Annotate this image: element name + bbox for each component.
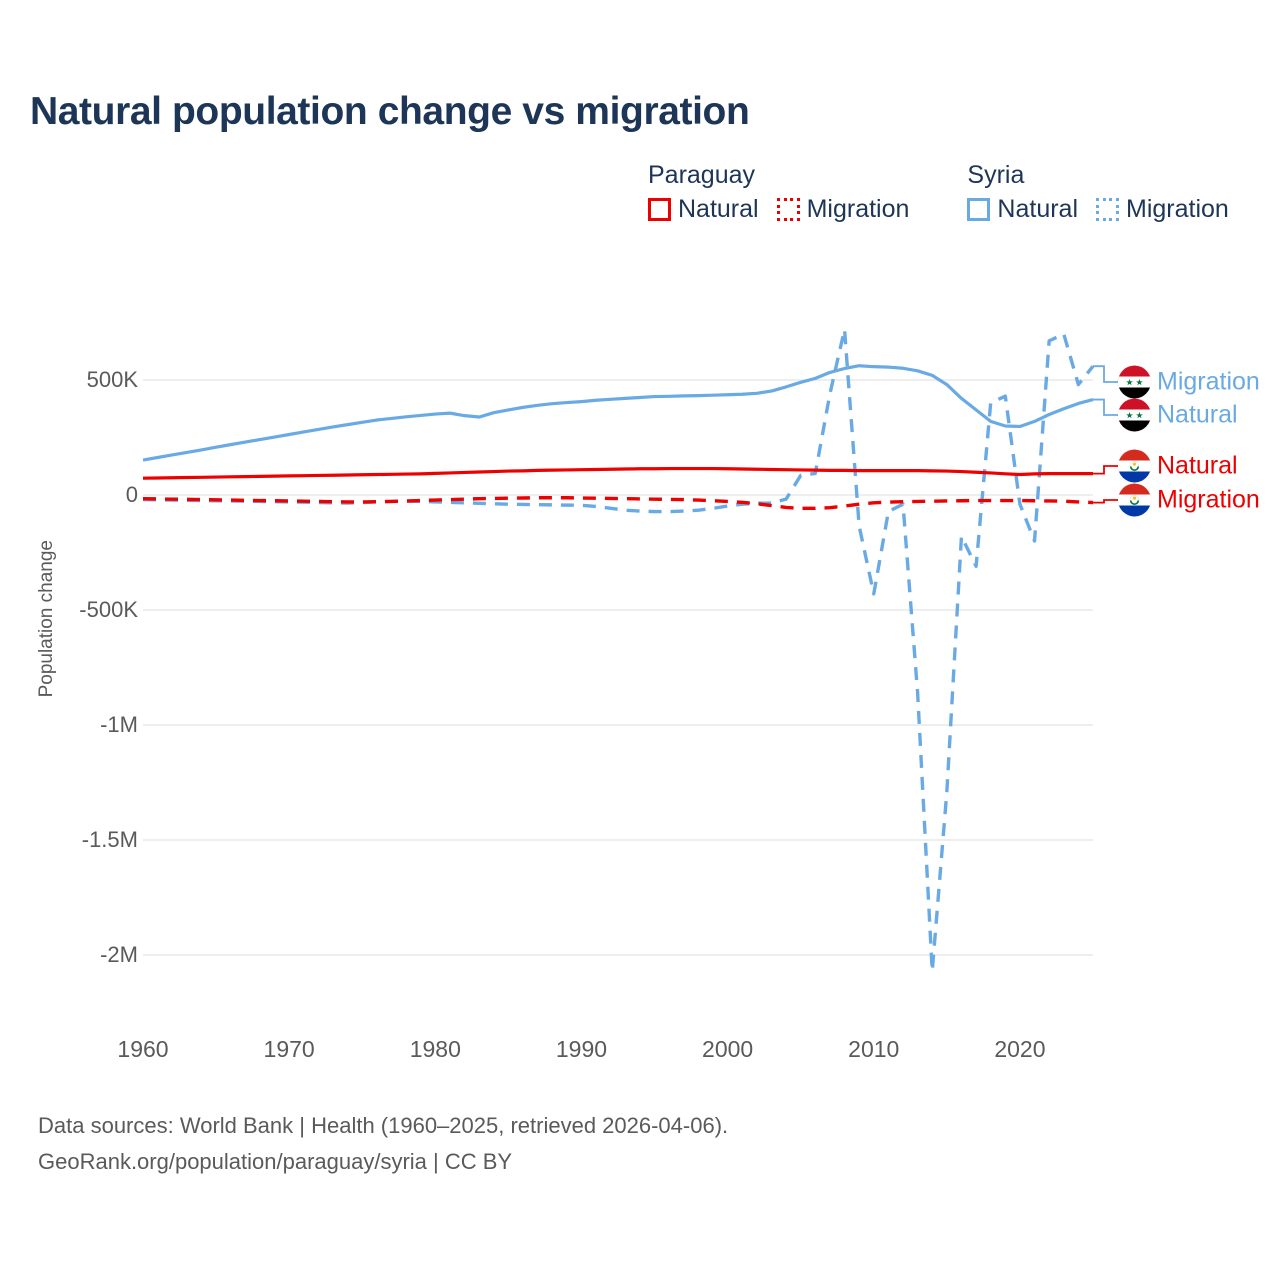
footer-line-1: Data sources: World Bank | Health (1960–… xyxy=(38,1108,728,1144)
y-axis-tick-label: -1M xyxy=(100,712,138,738)
x-axis-tick-label: 1980 xyxy=(410,1036,461,1063)
x-axis-tick-label: 1990 xyxy=(556,1036,607,1063)
y-axis-tick-label: -2M xyxy=(100,942,138,968)
series-end-label-text: Natural xyxy=(1157,454,1238,479)
syria-flag-icon xyxy=(1118,366,1151,399)
series-end-label[interactable]: Natural xyxy=(1118,450,1238,483)
x-axis-tick-label: 2010 xyxy=(848,1036,899,1063)
footer-note: Data sources: World Bank | Health (1960–… xyxy=(38,1108,728,1181)
series-end-label-text: Migration xyxy=(1157,488,1260,513)
y-axis-tick-label: -1.5M xyxy=(82,827,138,853)
footer-line-2: GeoRank.org/population/paraguay/syria | … xyxy=(38,1144,728,1180)
plot-canvas xyxy=(0,0,1280,1280)
paraguay-flag-icon xyxy=(1118,450,1151,483)
series-end-label[interactable]: Natural xyxy=(1118,399,1238,432)
label-leader-line xyxy=(1093,466,1118,474)
series-line-paraguay-natural xyxy=(143,469,1093,479)
paraguay-flag-icon xyxy=(1118,484,1151,517)
series-end-label[interactable]: Migration xyxy=(1118,366,1260,399)
x-axis-tick-label: 1970 xyxy=(264,1036,315,1063)
y-axis-tick-label: 500K xyxy=(87,367,138,393)
x-axis-tick-label: 2000 xyxy=(702,1036,753,1063)
x-axis-tick-label: 1960 xyxy=(117,1036,168,1063)
series-end-label-text: Migration xyxy=(1157,370,1260,395)
y-axis-tick-label: -500K xyxy=(79,597,138,623)
series-line-syria-migration xyxy=(143,329,1093,971)
y-axis-tick-label: 0 xyxy=(126,482,138,508)
label-leader-line xyxy=(1093,366,1118,382)
y-axis-title: Population change xyxy=(36,540,58,697)
series-end-label[interactable]: Migration xyxy=(1118,484,1260,517)
series-end-label-text: Natural xyxy=(1157,403,1238,428)
syria-flag-icon xyxy=(1118,399,1151,432)
label-leader-line xyxy=(1093,400,1118,415)
chart-root: Natural population change vs migration P… xyxy=(0,0,1280,1280)
x-axis-tick-label: 2020 xyxy=(994,1036,1045,1063)
label-leader-line xyxy=(1093,500,1118,503)
